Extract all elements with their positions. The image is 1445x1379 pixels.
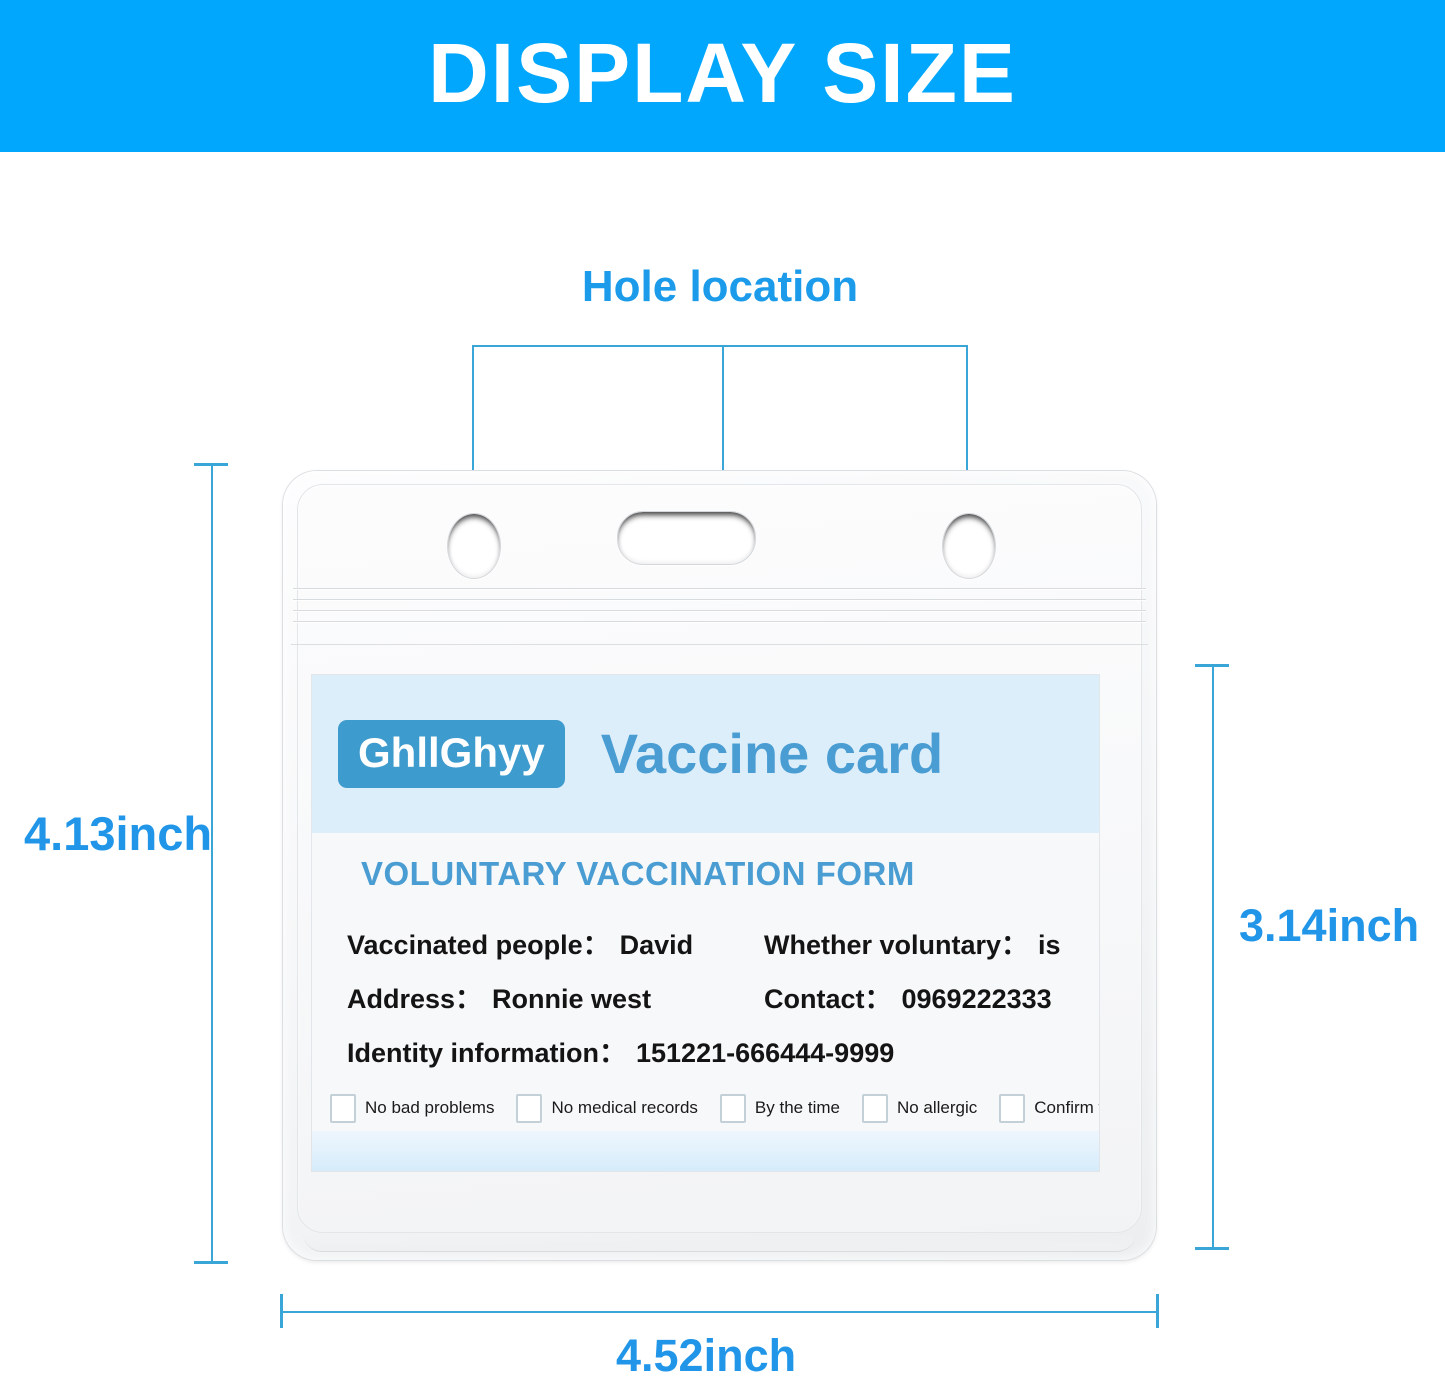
brand-logo-badge: GhllGhyy xyxy=(338,720,565,788)
checkbox-label: Confirm the vaccination xyxy=(1034,1098,1099,1118)
field-whether-voluntary: Whether voluntary：is xyxy=(764,923,1061,962)
field-label: Contact： xyxy=(764,984,892,1014)
header-banner: DISPLAY SIZE xyxy=(0,0,1445,152)
banner-title: DISPLAY SIZE xyxy=(0,0,1445,152)
vaccine-card: GhllGhyy Vaccine card VOLUNTARY VACCINAT… xyxy=(312,675,1099,1171)
dimension-cap-card-height-bottom xyxy=(1195,1247,1229,1250)
vaccine-card-title: Vaccine card xyxy=(601,726,943,782)
checkbox-item-no-bad-problems[interactable]: No bad problems xyxy=(330,1094,494,1123)
field-label: Whether voluntary： xyxy=(764,930,1028,960)
field-value: 151221-666444-9999 xyxy=(636,1038,894,1068)
badge-holder-sleeve: GhllGhyy Vaccine card VOLUNTARY VACCINAT… xyxy=(283,471,1156,1260)
dimension-line-card-height xyxy=(1212,665,1214,1250)
field-label: Vaccinated people： xyxy=(347,930,610,960)
ziplock-ridge-line xyxy=(293,610,1146,611)
checkbox-label: No allergic xyxy=(897,1098,977,1118)
checkbox-icon[interactable] xyxy=(862,1094,888,1123)
dimension-cap-card-height-top xyxy=(1195,664,1229,667)
dimension-label-card-height: 3.14inch xyxy=(1239,900,1419,952)
checkbox-icon[interactable] xyxy=(999,1094,1025,1123)
product-infographic: DISPLAY SIZE Hole location GhllGhyy Vacc… xyxy=(0,0,1445,1379)
vaccine-card-body: VOLUNTARY VACCINATION FORM Vaccinated pe… xyxy=(312,833,1099,1171)
field-label: Identity information： xyxy=(347,1038,626,1068)
field-value: 0969222333 xyxy=(902,984,1052,1014)
field-value: is xyxy=(1038,930,1061,960)
ziplock-ridge-line xyxy=(293,588,1146,589)
checkbox-label: No bad problems xyxy=(365,1098,494,1118)
sleeve-seam-line xyxy=(291,644,1148,645)
checkbox-icon[interactable] xyxy=(516,1094,542,1123)
checkbox-item-confirm-the-vaccination[interactable]: Confirm the vaccination xyxy=(999,1094,1099,1123)
field-value: Ronnie west xyxy=(492,984,651,1014)
checkbox-item-by-the-time[interactable]: By the time xyxy=(720,1094,840,1123)
checkbox-icon[interactable] xyxy=(720,1094,746,1123)
dimension-cap-height-top xyxy=(194,463,228,466)
field-label: Address： xyxy=(347,984,482,1014)
field-value: David xyxy=(620,930,694,960)
ziplock-ridge-line xyxy=(293,621,1146,622)
hole-callout-bracket xyxy=(472,345,968,347)
vaccine-card-header: GhllGhyy Vaccine card xyxy=(312,675,1099,833)
dimension-line-height xyxy=(211,464,213,1264)
checkbox-item-no-allergic[interactable]: No allergic xyxy=(862,1094,977,1123)
punch-slot-center-icon xyxy=(617,511,756,565)
dimension-cap-height-bottom xyxy=(194,1261,228,1264)
dimension-cap-width-left xyxy=(280,1294,283,1328)
punch-hole-left-icon xyxy=(447,513,501,579)
field-identity-information: Identity information：151221-666444-9999 xyxy=(347,1031,894,1070)
field-address: Address：Ronnie west xyxy=(347,977,651,1016)
checkbox-icon[interactable] xyxy=(330,1094,356,1123)
checkbox-label: No medical records xyxy=(551,1098,697,1118)
card-footer-band xyxy=(312,1131,1099,1171)
checkbox-item-no-medical-records[interactable]: No medical records xyxy=(516,1094,697,1123)
dimension-label-height: 4.13inch xyxy=(24,806,212,861)
punch-hole-right-icon xyxy=(942,513,996,579)
field-contact: Contact：0969222333 xyxy=(764,977,1052,1016)
checkbox-label: By the time xyxy=(755,1098,840,1118)
checkbox-row: No bad problems No medical records By th… xyxy=(330,1091,1089,1125)
sleeve-bottom-lip xyxy=(303,1233,1136,1252)
ziplock-ridge-line xyxy=(293,599,1146,600)
dimension-cap-width-right xyxy=(1156,1294,1159,1328)
hole-location-label: Hole location xyxy=(470,262,970,312)
form-title: VOLUNTARY VACCINATION FORM xyxy=(361,855,915,893)
field-vaccinated-people: Vaccinated people：David xyxy=(347,923,693,962)
ziplock-ridges xyxy=(293,588,1146,632)
dimension-line-width xyxy=(281,1311,1159,1313)
dimension-label-width: 4.52inch xyxy=(616,1330,796,1379)
